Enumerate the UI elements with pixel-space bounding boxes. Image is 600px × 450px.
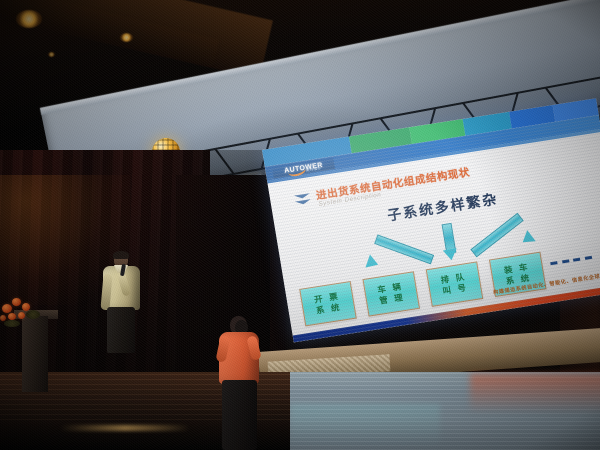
floor-reflection-cyan (290, 404, 440, 450)
arrow-right-diagonal (463, 212, 538, 258)
subsystem-box-queue-calling[interactable]: 排 队 叫 号 (426, 261, 484, 306)
flower (8, 313, 16, 320)
box-label-line2: 系 统 (315, 302, 342, 317)
subsystem-box-invoicing[interactable]: 开 票 系 统 (299, 281, 357, 326)
floral-arrangement (0, 294, 48, 328)
presenter-figure (100, 252, 144, 352)
flower (2, 304, 12, 313)
flower (12, 298, 21, 306)
flower (0, 315, 6, 321)
chevron-down-icon (294, 193, 313, 211)
presenter-trousers (107, 307, 135, 353)
ceiling-light-3 (48, 52, 55, 57)
foliage (26, 310, 40, 319)
box-label-line2: 叫 号 (442, 282, 469, 297)
ceiling-light-1 (16, 10, 42, 28)
continuation-dashes (550, 256, 592, 265)
box-label-line2: 管 理 (379, 292, 406, 307)
floor-reflection-red (470, 374, 600, 414)
photo-scene: AUTOWER 奥特维尔 进出货系统自动化组成结构现状 System Descr… (0, 0, 600, 450)
ceiling-light-2 (120, 33, 133, 42)
flower (18, 312, 25, 319)
footlight-glow (60, 425, 190, 431)
presenter-hair (113, 251, 129, 259)
audience-black-skirt (222, 380, 257, 450)
foliage (4, 320, 20, 327)
subsystem-box-vehicle-management[interactable]: 车 辆 管 理 (362, 271, 420, 316)
arrow-center-vertical (439, 223, 459, 265)
arrow-left-diagonal (362, 228, 437, 274)
audience-photographer-figure (219, 316, 261, 450)
